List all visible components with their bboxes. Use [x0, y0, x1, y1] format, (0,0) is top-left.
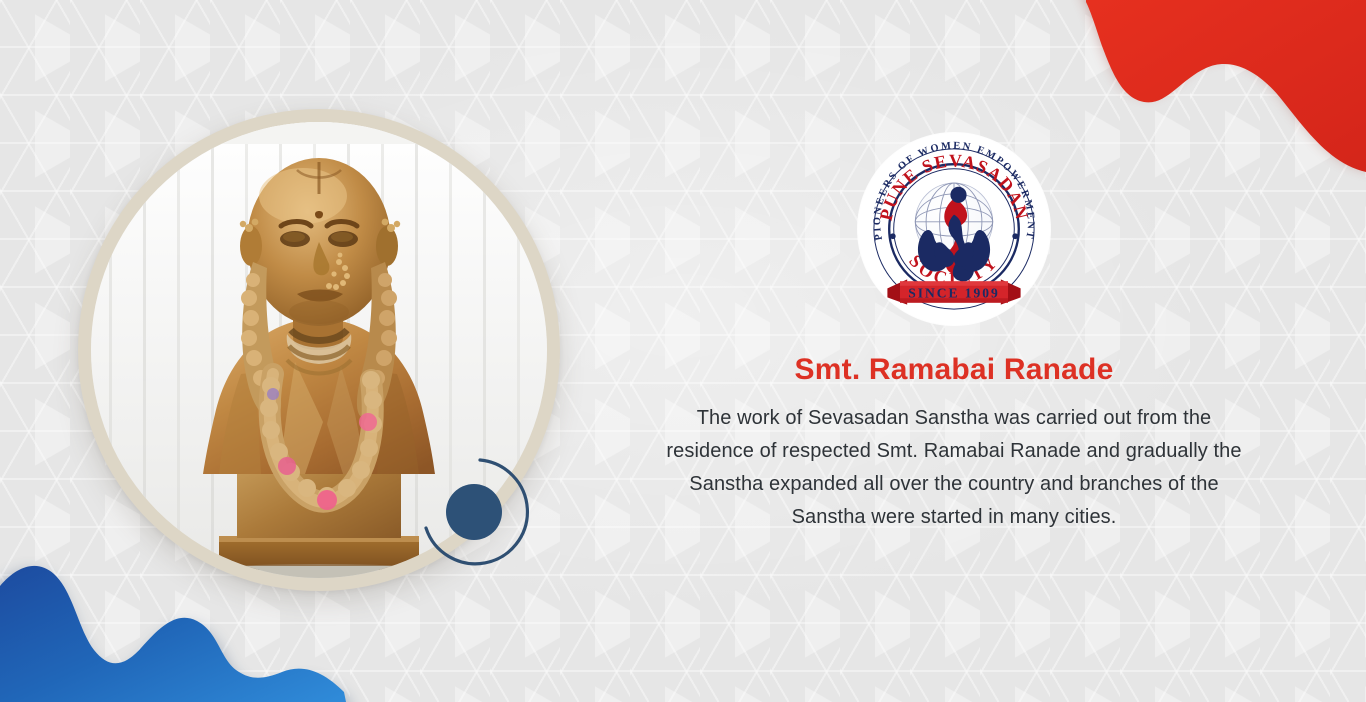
description-line: Sanstha expanded all over the country an… — [634, 468, 1274, 501]
logo-ribbon: SINCE 1909 — [887, 279, 1020, 304]
red-blob — [1086, 0, 1366, 172]
description-text: The work of Sevasadan Sanstha was carrie… — [634, 402, 1274, 534]
logo-ribbon-text: SINCE 1909 — [908, 285, 999, 300]
description-line: residence of respected Smt. Ramabai Rana… — [634, 435, 1274, 468]
statue-illustration — [91, 122, 547, 578]
description-line: Sanstha were started in many cities. — [634, 501, 1274, 534]
organization-logo: PIONEERS OF WOMEN EMPOWERMENT PUNE SEVAS… — [858, 133, 1050, 325]
slide-canvas: PIONEERS OF WOMEN EMPOWERMENT PUNE SEVAS… — [0, 0, 1366, 702]
page-title: Smt. Ramabai Ranade — [634, 352, 1274, 388]
pune-sevasadan-society-logo: PIONEERS OF WOMEN EMPOWERMENT PUNE SEVAS… — [864, 139, 1044, 319]
description-line: The work of Sevasadan Sanstha was carrie… — [634, 402, 1274, 435]
content-block: Smt. Ramabai Ranade The work of Sevasada… — [634, 352, 1274, 534]
portrait-image — [91, 122, 547, 578]
portrait-frame — [78, 109, 560, 591]
